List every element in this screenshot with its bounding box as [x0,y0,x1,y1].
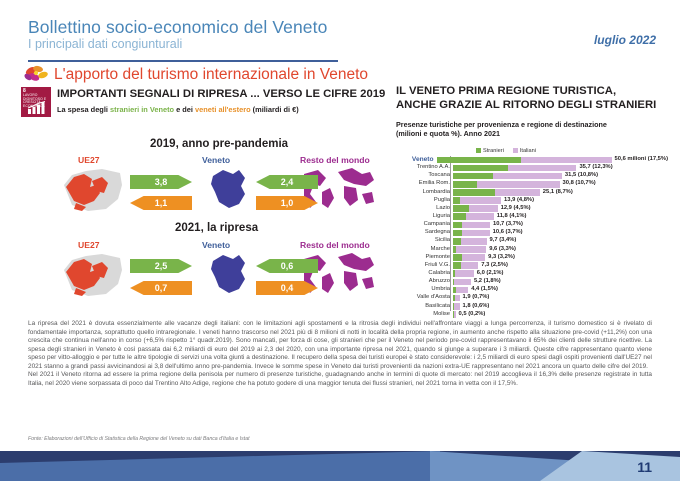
chart-row-label: Veneto [396,156,437,164]
chart-subheading-line1: Presenze turistiche per provenienza e re… [396,120,607,129]
chart-subheading: Presenze turistiche per provenienza e re… [396,120,607,139]
chart-row-bar [453,311,456,318]
bar-segment-italiani [461,262,478,269]
chart-row-bar [453,279,471,286]
bar-segment-stranieri [453,230,462,237]
chart-row-label: Abruzzo [396,278,453,286]
chart-row: Toscana31,5 (10,8%) [396,172,668,180]
chart-row-label: Campania [396,221,453,229]
chart-value-label: 25,1 (8,7%) [543,189,573,197]
bar-segment-stranieri [453,222,462,229]
spesa-suffix: (miliardi di €) [251,105,299,114]
bar-segment-italiani [454,303,460,310]
arrow-2019-outbound-ue27: 1,1 [130,196,192,210]
footer-shape-1 [0,451,440,481]
chart-row: Molise0,5 (0,2%) [396,311,668,319]
chart-row-label: Sicilia [396,237,453,245]
chart-row-label: Lazio [396,205,453,213]
bar-segment-stranieri [453,197,460,204]
left-column-heading: IMPORTANTI SEGNALI DI RIPRESA ... VERSO … [57,88,385,100]
chart-value-label: 50,6 milioni (17,5%) [615,156,668,164]
bar-segment-stranieri [453,238,461,245]
chart-value-label: 0,5 (0,2%) [459,311,486,319]
right-column-heading: IL VENETO PRIMA REGIONE TURISTICA, ANCHE… [396,85,656,112]
chart-row-bar [453,303,460,310]
veneti-highlight: veneti all'estero [195,105,251,114]
bar-segment-italiani [493,173,562,180]
arrow-2019-inbound-resto: 2,4 [256,175,318,189]
chart-value-label: 35,7 (12,3%) [579,164,612,172]
legend-swatch-italiani [513,148,518,153]
header-divider [28,60,338,62]
chart-row: Veneto50,6 milioni (17,5%) [396,156,668,164]
chart-row-label: Trentino A.A. [396,164,453,172]
bar-segment-italiani [461,238,487,245]
body-paragraph-1: La ripresa del 2021 è dovuta essenzialme… [28,320,652,371]
bar-segment-italiani [495,189,540,196]
block-2021-label-veneto: Veneto [202,240,230,250]
bar-segment-stranieri [453,173,493,180]
body-text: La ripresa del 2021 è dovuta essenzialme… [28,320,652,388]
bar-segment-italiani [469,205,498,212]
stranieri-highlight: stranieri in Veneto [110,105,174,114]
bar-segment-italiani [462,222,490,229]
legend-swatch-stranieri [476,148,481,153]
chart-row: Campania10,7 (3,7%) [396,221,668,229]
chart-row-bar [453,230,490,237]
chart-value-label: 1,8 (0,6%) [463,303,490,311]
page-subtitle: I principali dati congiunturali [28,37,182,51]
right-heading-line1: IL VENETO PRIMA REGIONE TURISTICA, [396,85,656,99]
section-title: L'apporto del turismo internazionale in … [54,66,368,84]
map-europe-2021 [62,250,124,298]
chart-row-label: Calabria [396,270,453,278]
page-number: 11 [637,459,652,475]
chart-value-label: 30,8 (10,7%) [563,180,596,188]
bar-segment-stranieri [453,205,469,212]
chart-row-label: Sardegna [396,229,453,237]
chart-row: Marche9,6 (3,3%) [396,246,668,254]
bar-segment-italiani [455,295,459,302]
chart-rows: Veneto50,6 milioni (17,5%)Trentino A.A.3… [396,156,668,319]
arrow-2021-inbound-resto: 0,6 [256,259,318,273]
chart-value-label: 10,7 (3,7%) [493,221,523,229]
block-2019-label-veneto: Veneto [202,155,230,165]
bar-segment-stranieri [453,189,495,196]
chart-value-label: 5,2 (1,8%) [474,278,501,286]
bar-segment-stranieri [453,181,477,188]
chart-row-bar [437,157,612,164]
chart-row: Abruzzo5,2 (1,8%) [396,278,668,286]
chart-row-bar [453,254,485,261]
chart-row-label: Basilicata [396,303,453,311]
spesa-mid: e dei [174,105,195,114]
footer-bar [0,451,680,481]
right-heading-line2: ANCHE GRAZIE AL RITORNO DEGLI STRANIERI [396,99,656,113]
chart-row: Friuli V.G.7,3 (2,5%) [396,262,668,270]
chart-row: Puglia13,9 (4,8%) [396,197,668,205]
chart-row-bar [453,262,478,269]
bar-segment-stranieri [453,262,461,269]
chart-value-label: 7,3 (2,5%) [481,262,508,270]
block-2019-title: 2019, anno pre-pandemia [150,138,288,150]
legend-label-italiani: Italiani [520,148,536,154]
arrow-2021-outbound-ue27: 0,7 [130,281,192,295]
block-2021-label-ue27: UE27 [78,240,100,250]
chart-value-label: 9,7 (3,4%) [490,237,517,245]
chart-row-label: Molise [396,311,453,319]
tourism-bar-chart: Stranieri Italiani Veneto50,6 milioni (1… [396,148,668,311]
chart-row-bar [453,213,494,220]
chart-value-label: 1,9 (0,7%) [463,294,490,302]
map-veneto-2019 [205,166,251,212]
chart-row-label: Piemonte [396,254,453,262]
chart-row: Piemonte9,3 (3,2%) [396,254,668,262]
chart-row-label: Emilia Rom. [396,180,453,188]
chart-row-label: Umbria [396,286,453,294]
map-veneto-2021 [205,251,251,297]
bar-segment-italiani [455,270,474,277]
block-2019-label-ue27: UE27 [78,155,100,165]
block-2021-title: 2021, la ripresa [175,222,258,234]
legend-label-stranieri: Stranieri [483,148,504,154]
arrow-2021-inbound-ue27: 2,5 [130,259,192,273]
chart-row-bar [453,173,562,180]
chart-row: Liguria11,8 (4,1%) [396,213,668,221]
bar-segment-italiani [460,197,501,204]
chart-value-label: 13,9 (4,8%) [504,197,534,205]
growth-chart-icon [27,101,47,114]
chart-row-label: Toscana [396,172,453,180]
chart-row-label: Friuli V.G. [396,262,453,270]
legend-item-italiani: Italiani [513,148,536,154]
chart-row: Umbria4,4 (1,5%) [396,286,668,294]
footer-shape-3 [540,451,680,481]
left-column-subheading: La spesa degli stranieri in Veneto e dei… [57,105,299,114]
chart-row-bar [453,238,487,245]
flower-logo-icon [22,64,54,84]
sdg-8-badge: 8 LAVORO DIGNITOSO E CRESCITA ECONOMICA [20,86,52,118]
bar-segment-italiani [508,165,576,172]
chart-row-bar [453,295,460,302]
bar-segment-italiani [454,279,471,286]
chart-row: Sicilia9,7 (3,4%) [396,237,668,245]
bar-segment-stranieri [453,213,466,220]
issue-date: luglio 2022 [594,33,656,47]
source-note: Fonte: Elaborazioni dell'Ufficio di Stat… [28,436,250,442]
chart-row-bar [453,270,474,277]
bar-segment-italiani [456,246,486,253]
chart-value-label: 9,3 (3,2%) [488,254,515,262]
slide-page: Bollettino socio-economico del Veneto I … [0,0,680,481]
chart-row: Basilicata1,8 (0,6%) [396,303,668,311]
chart-row: Lombardia25,1 (8,7%) [396,189,668,197]
chart-row: Trentino A.A.35,7 (12,3%) [396,164,668,172]
body-paragraph-2: Nel 2021 il Veneto ritorna ad essere la … [28,371,652,388]
chart-row-bar [453,165,576,172]
chart-row-label: Liguria [396,213,453,221]
chart-row: Lazio12,9 (4,5%) [396,205,668,213]
bar-segment-italiani [456,287,468,294]
chart-row-bar [453,287,468,294]
bar-segment-stranieri [453,254,462,261]
bar-segment-italiani [454,311,456,318]
chart-row: Valle d'Aosta1,9 (0,7%) [396,294,668,302]
chart-value-label: 9,6 (3,3%) [489,246,516,254]
chart-row-bar [453,222,490,229]
chart-subheading-line2: (milioni e quota %). Anno 2021 [396,129,607,138]
chart-row: Emilia Rom.30,8 (10,7%) [396,180,668,188]
chart-value-label: 11,8 (4,1%) [497,213,527,221]
spesa-prefix: La spesa degli [57,105,110,114]
chart-row-label: Puglia [396,197,453,205]
legend-item-stranieri: Stranieri [476,148,504,154]
map-europe-2019 [62,165,124,213]
block-2021-label-resto: Resto del mondo [300,240,370,250]
bar-segment-italiani [462,230,490,237]
bar-segment-italiani [466,213,493,220]
chart-row: Calabria6,0 (2,1%) [396,270,668,278]
bar-segment-stranieri [453,165,508,172]
chart-row-bar [453,181,560,188]
chart-row-bar [453,197,501,204]
block-2019-label-resto: Resto del mondo [300,155,370,165]
arrow-2019-inbound-ue27: 3,8 [130,175,192,189]
chart-row-bar [453,205,498,212]
chart-value-label: 10,6 (3,7%) [493,229,523,237]
bar-segment-italiani [462,254,485,261]
chart-value-label: 31,5 (10,8%) [565,172,598,180]
chart-row-label: Valle d'Aosta [396,294,453,302]
chart-row-bar [453,189,540,196]
chart-legend: Stranieri Italiani [476,148,536,154]
chart-row: Sardegna10,6 (3,7%) [396,229,668,237]
chart-row-bar [453,246,486,253]
chart-value-label: 6,0 (2,1%) [477,270,504,278]
chart-row-label: Lombardia [396,189,453,197]
bar-segment-italiani [521,157,611,164]
bar-segment-italiani [477,181,560,188]
bar-segment-stranieri [437,157,522,164]
chart-row-label: Marche [396,246,453,254]
chart-value-label: 4,4 (1,5%) [471,286,498,294]
page-title: Bollettino socio-economico del Veneto [28,17,327,38]
chart-value-label: 12,9 (4,5%) [501,205,531,213]
